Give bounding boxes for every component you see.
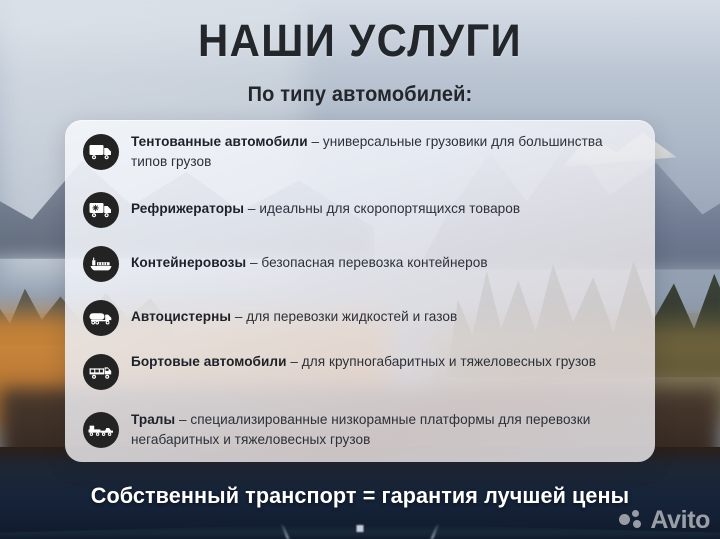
service-dash: – (287, 354, 302, 369)
service-name: Бортовые автомобили (131, 354, 287, 369)
page-subtitle: По типу автомобилей: (18, 82, 702, 108)
service-name: Тралы (131, 412, 175, 427)
service-item: Рефрижераторы – идеальны для скоропортящ… (65, 190, 655, 242)
avito-dots-icon (619, 510, 645, 532)
poster-root: НАШИ УСЛУГИ По типу автомобилей: Тентова… (0, 0, 720, 539)
service-item: Бортовые автомобили – для крупногабаритн… (65, 352, 655, 408)
service-dash: – (246, 255, 261, 270)
service-description: специализированные низкорамные платформы… (131, 412, 590, 447)
service-dash: – (308, 134, 323, 149)
service-name: Рефрижераторы (131, 201, 244, 216)
service-text: Контейнеровозы – безопасная перевозка ко… (131, 244, 637, 273)
service-text: Автоцистерны – для перевозки жидкостей и… (131, 298, 637, 327)
lowboy-trailer-icon (83, 412, 119, 448)
service-dash: – (231, 309, 246, 324)
refrigerator-truck-icon (83, 192, 119, 228)
footer-slogan: Собственный транспорт = гарантия лучшей … (14, 482, 705, 510)
service-name: Автоцистерны (131, 309, 231, 324)
service-text: Тралы – специализированные низкорамные п… (131, 410, 637, 449)
service-name: Тентованные автомобили (131, 134, 308, 149)
services-card: Тентованные автомобили – универсальные г… (65, 120, 655, 462)
service-text: Бортовые автомобили – для крупногабаритн… (131, 352, 637, 372)
service-text: Тентованные автомобили – универсальные г… (131, 132, 637, 171)
avito-wordmark: Avito (650, 508, 710, 533)
service-item: Автоцистерны – для перевозки жидкостей и… (65, 298, 655, 350)
service-description: идеальны для скоропортящихся товаров (259, 201, 520, 216)
container-ship-icon (83, 246, 119, 282)
service-item: Контейнеровозы – безопасная перевозка ко… (65, 244, 655, 296)
service-name: Контейнеровозы (131, 255, 246, 270)
flatbed-truck-icon (83, 354, 119, 390)
service-dash: – (244, 201, 259, 216)
services-list: Тентованные автомобили – универсальные г… (65, 132, 655, 462)
service-text: Рефрижераторы – идеальны для скоропортящ… (131, 190, 637, 219)
service-description: для крупногабаритных и тяжеловесных груз… (302, 354, 596, 369)
service-item: Тралы – специализированные низкорамные п… (65, 410, 655, 462)
service-dash: – (175, 412, 190, 427)
avito-watermark: Avito (619, 508, 710, 533)
page-title: НАШИ УСЛУГИ (25, 16, 695, 66)
service-description: для перевозки жидкостей и газов (246, 309, 457, 324)
service-item: Тентованные автомобили – универсальные г… (65, 132, 655, 188)
service-description: безопасная перевозка контейнеров (261, 255, 487, 270)
tilt-truck-icon (83, 134, 119, 170)
tanker-truck-icon (83, 300, 119, 336)
